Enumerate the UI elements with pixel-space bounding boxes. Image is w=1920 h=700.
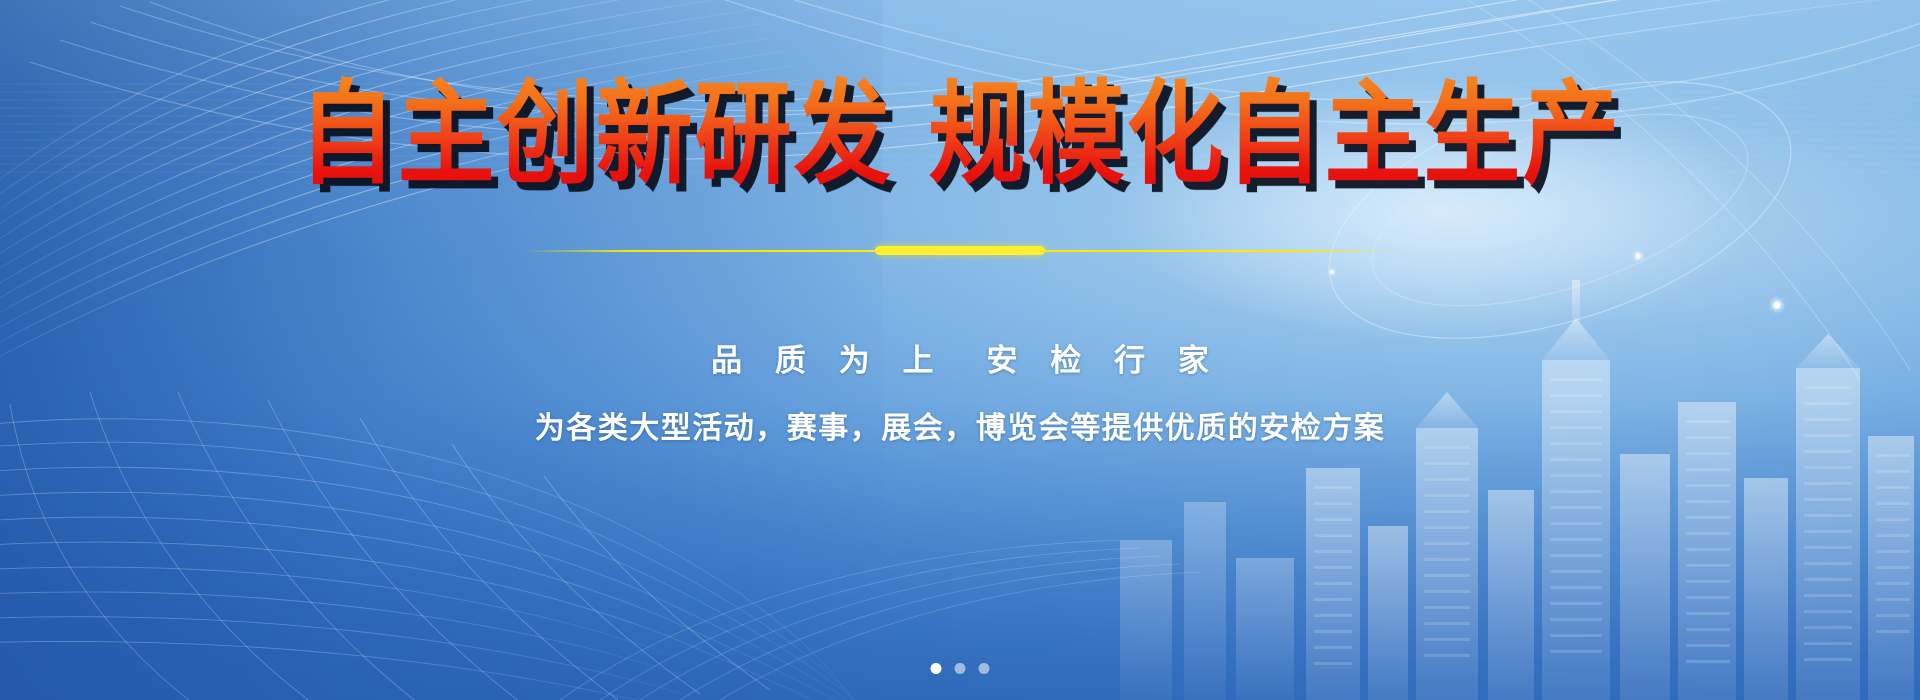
banner-headline: 自主创新研发 规模化自主生产 <box>299 72 1622 198</box>
hero-banner: 自主创新研发 规模化自主生产 品 质 为 上 安 检 行 家 为各类大型活动，赛… <box>0 0 1920 700</box>
carousel-dot-1[interactable] <box>931 663 942 674</box>
banner-content: 自主创新研发 规模化自主生产 品 质 为 上 安 检 行 家 为各类大型活动，赛… <box>0 0 1920 700</box>
divider-highlight-bar <box>875 246 1045 255</box>
yellow-divider <box>526 243 1394 259</box>
carousel-dot-2[interactable] <box>955 663 966 674</box>
banner-subtitle-primary: 品 质 为 上 安 检 行 家 <box>700 335 1220 380</box>
banner-subtitle-secondary: 为各类大型活动，赛事，展会，博览会等提供优质的安检方案 <box>535 403 1386 447</box>
carousel-dots[interactable] <box>931 663 990 674</box>
carousel-dot-3[interactable] <box>979 663 990 674</box>
